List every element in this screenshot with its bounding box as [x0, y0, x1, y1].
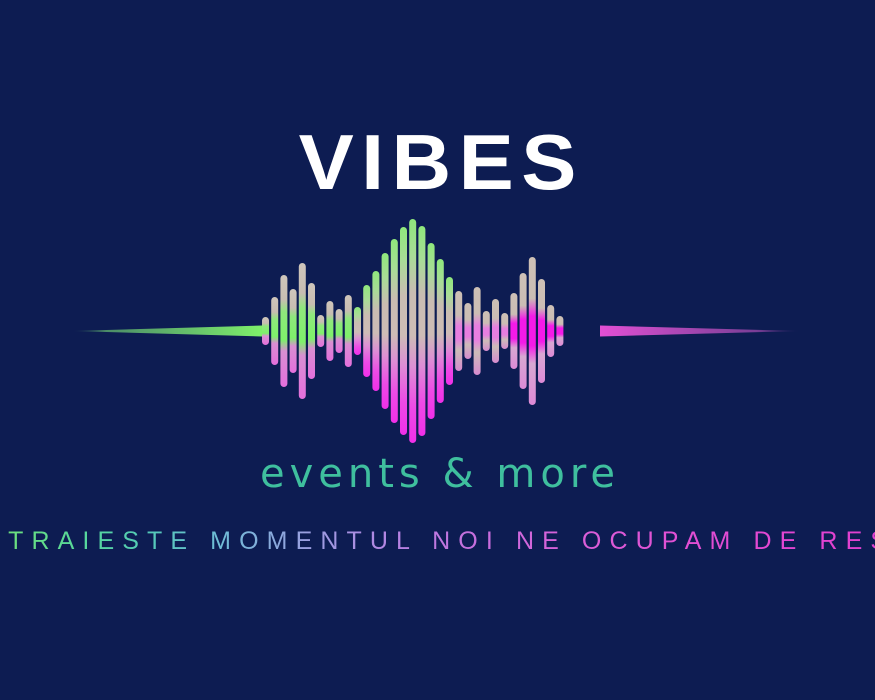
waveform-bar — [308, 283, 315, 379]
waveform-bar — [428, 243, 435, 419]
logo-canvas: VIBES — [0, 0, 875, 700]
waveform-bar — [520, 273, 527, 389]
waveform-bar — [529, 257, 536, 405]
waveform-graphic — [0, 196, 875, 466]
waveform-bar — [492, 299, 499, 363]
waveform-bar — [409, 219, 416, 443]
waveform-bar — [262, 317, 269, 345]
waveform-bar — [547, 305, 554, 357]
waveform-bar — [363, 285, 370, 377]
waveform-tail-right-shape — [600, 326, 800, 337]
waveform-bar — [280, 275, 287, 387]
waveform-tail-left — [72, 326, 262, 337]
waveform-bar — [391, 239, 398, 423]
waveform-bar — [345, 295, 352, 367]
waveform-tail-right — [600, 326, 800, 337]
waveform-bar — [336, 309, 343, 353]
waveform-bar — [290, 289, 297, 373]
waveform-bar — [538, 279, 545, 383]
waveform-bar — [501, 313, 508, 349]
waveform-bar — [474, 287, 481, 375]
waveform-tail-left-shape — [72, 326, 262, 337]
waveform-bars — [262, 219, 563, 443]
waveform-bar — [372, 271, 379, 391]
brand-tagline: TRAIESTE MOMENTUL NOI NE OCUPAM DE RESTU… — [0, 524, 875, 558]
waveform-bar — [455, 291, 462, 371]
waveform-bar — [464, 303, 471, 359]
waveform-bar — [400, 227, 407, 435]
waveform-bar — [299, 263, 306, 399]
waveform-bar — [317, 315, 324, 347]
brand-subtitle: events & more — [0, 448, 875, 500]
waveform-bar — [556, 316, 563, 346]
waveform-svg — [0, 196, 875, 466]
waveform-bar — [483, 311, 490, 351]
waveform-bar — [446, 277, 453, 385]
waveform-bar — [418, 226, 425, 436]
waveform-bar — [510, 293, 517, 369]
waveform-bar — [271, 297, 278, 365]
waveform-bar — [437, 259, 444, 403]
page-title: VIBES — [0, 119, 875, 205]
waveform-bar — [382, 253, 389, 409]
waveform-bar — [326, 301, 333, 361]
waveform-bar — [354, 307, 361, 355]
